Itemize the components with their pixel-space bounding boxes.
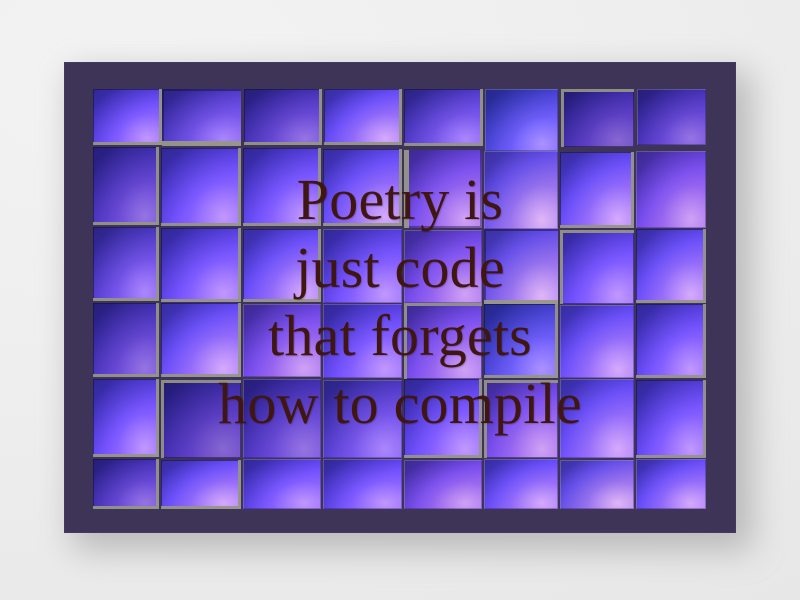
mosaic-tile-face (161, 148, 241, 226)
mosaic-tile (484, 151, 558, 229)
mosaic-tile (484, 380, 558, 458)
mosaic-tile (162, 89, 241, 146)
mosaic-tile (560, 379, 634, 458)
mosaic-tile-face (323, 459, 402, 509)
mosaic-tile-face (561, 89, 634, 147)
mosaic-tile (243, 379, 321, 458)
mosaic-tile (93, 227, 159, 301)
mosaic-tile-face (243, 229, 321, 302)
mosaic-tile (93, 459, 159, 509)
mosaic-tile (93, 303, 159, 377)
mosaic-tile (560, 305, 634, 378)
mosaic-tile-face (93, 303, 159, 377)
mosaic-tile-face (404, 89, 483, 146)
mosaic-tile (485, 89, 558, 151)
mosaic-tile-face (243, 304, 321, 377)
mosaic-tile-face (404, 303, 482, 379)
mosaic-tile-face (323, 229, 402, 303)
mosaic-tile (161, 303, 241, 377)
mosaic-tile (323, 304, 402, 378)
mosaic-tile-face (560, 230, 634, 304)
mosaic-tile (243, 229, 321, 302)
mosaic-tile-face (485, 89, 558, 151)
mosaic-tile (636, 459, 706, 509)
mosaic-tile (484, 304, 558, 378)
mosaic-tile-face (243, 459, 321, 509)
mosaic-tile-face (484, 459, 558, 509)
mosaic-tile-face (161, 228, 241, 302)
mosaic-tile-face (484, 151, 558, 229)
mosaic-tile-face (404, 150, 482, 228)
mosaic-tile-face (93, 379, 159, 457)
mosaic-tile (561, 89, 634, 147)
mosaic-tile (161, 148, 241, 226)
mosaic-tile (404, 89, 483, 146)
mosaic-tile-face (161, 460, 241, 509)
mosaic-tile-face (324, 89, 402, 145)
mosaic-tile (243, 304, 321, 377)
mosaic-tile-face (93, 227, 159, 301)
mosaic-tile-face (404, 460, 482, 509)
mosaic-tile (636, 304, 706, 378)
mosaic-tile (636, 151, 706, 228)
mosaic-tile (560, 152, 634, 228)
mosaic-tile-face (560, 152, 634, 228)
mosaic-tile (560, 460, 634, 509)
mosaic-tile-face (636, 229, 706, 303)
mosaic-tile (484, 459, 558, 509)
mosaic-tile-face (404, 379, 482, 458)
mosaic-tile-face (93, 147, 159, 225)
mosaic-tile-face (244, 89, 322, 145)
mosaic-tile-face (636, 380, 706, 458)
mosaic-tile (93, 89, 162, 145)
mosaic-tile-face (484, 380, 558, 458)
mosaic-tile (636, 229, 706, 303)
mosaic-tile (323, 459, 402, 509)
mosaic-tile-face (243, 148, 321, 226)
mosaic-tile (323, 380, 402, 458)
mosaic-tile-face (636, 304, 706, 378)
mosaic-tile-face (243, 379, 321, 458)
mosaic-tile (161, 228, 241, 302)
mosaic-tile-face (161, 380, 241, 458)
mosaic-tile-face (636, 151, 706, 228)
mosaic-tile (243, 148, 321, 226)
mosaic-tile (404, 303, 482, 379)
mosaic-tile (93, 147, 159, 225)
mosaic-tile-face (93, 459, 159, 509)
mosaic-tile (93, 379, 159, 457)
mosaic-tile-face (484, 304, 558, 378)
mosaic-tile (324, 89, 402, 145)
mosaic-tile (404, 379, 482, 458)
mosaic-tile (323, 229, 402, 303)
mosaic-tile (323, 149, 402, 226)
mosaic-tile-face (323, 149, 402, 226)
mosaic-tile-face (93, 89, 162, 145)
mosaic-tile-face (636, 459, 706, 509)
mosaic-tile-face (323, 380, 402, 458)
mosaic-tile-face (560, 379, 634, 458)
tile-mosaic-background (93, 89, 706, 509)
mosaic-tile (404, 150, 482, 228)
mosaic-tile-face (637, 89, 706, 145)
mosaic-tile-face (560, 460, 634, 509)
mosaic-tile (636, 380, 706, 458)
mosaic-tile (161, 460, 241, 509)
canvas: Poetry is just code that forgets how to … (0, 0, 800, 600)
mosaic-tile (637, 89, 706, 145)
mosaic-tile (244, 89, 322, 145)
mosaic-tile-face (484, 229, 558, 305)
mosaic-tile-face (404, 230, 482, 303)
mosaic-tile (243, 459, 321, 509)
mosaic-tile-face (323, 304, 402, 378)
mosaic-tile (560, 230, 634, 304)
mosaic-tile-face (161, 303, 241, 377)
mosaic-tile-face (162, 89, 241, 146)
mosaic-tile (161, 380, 241, 458)
mosaic-tile (404, 230, 482, 303)
mosaic-tile-face (560, 305, 634, 378)
mosaic-tile (404, 460, 482, 509)
picture-frame (64, 62, 736, 533)
mosaic-tile (484, 229, 558, 305)
